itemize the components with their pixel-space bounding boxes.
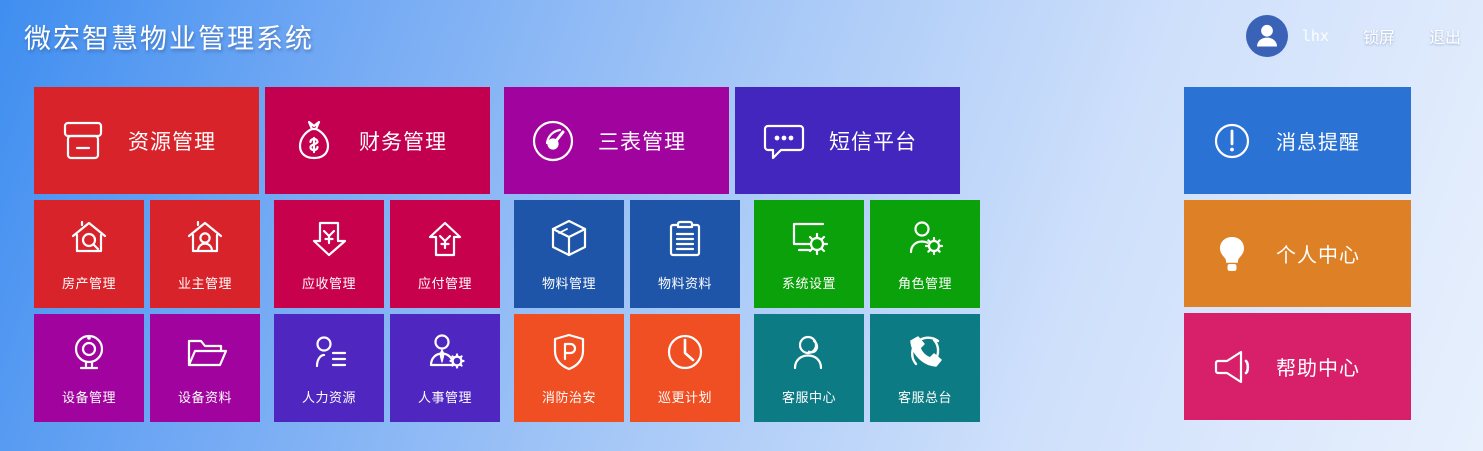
tile-label: 客服中心 bbox=[782, 387, 836, 406]
module-grid-row-3: 设备管理 设备资料 人力资源 人事管理 消防治安 bbox=[34, 314, 980, 422]
folder-open-icon bbox=[181, 328, 229, 376]
tile-patrol-plan[interactable]: 巡更计划 bbox=[630, 314, 740, 422]
meter-gauge-icon bbox=[526, 114, 580, 168]
tile-equipment-records[interactable]: 设备资料 bbox=[150, 314, 260, 422]
tile-fire-security[interactable]: 消防治安 bbox=[514, 314, 624, 422]
tile-sms-platform[interactable]: 短信平台 bbox=[735, 87, 960, 194]
house-search-icon bbox=[65, 214, 113, 262]
tile-label: 短信平台 bbox=[829, 126, 917, 156]
tile-label: 物料管理 bbox=[542, 273, 596, 292]
tile-label: 消防治安 bbox=[542, 387, 596, 406]
tile-label: 人事管理 bbox=[418, 387, 472, 406]
person-list-icon bbox=[305, 328, 353, 376]
house-person-icon bbox=[181, 214, 229, 262]
page-title: 微宏智慧物业管理系统 bbox=[24, 17, 314, 56]
tile-label: 角色管理 bbox=[898, 273, 952, 292]
tile-label: 帮助中心 bbox=[1276, 352, 1360, 381]
tile-label: 业主管理 bbox=[178, 273, 232, 292]
module-grid-row-1: 资源管理 财务管理 三表管理 短信平台 bbox=[34, 87, 980, 194]
tile-label: 应收管理 bbox=[302, 273, 356, 292]
tile-role-management[interactable]: 角色管理 bbox=[870, 200, 980, 308]
tile-equipment-management[interactable]: 设备管理 bbox=[34, 314, 144, 422]
avatar[interactable] bbox=[1246, 15, 1288, 57]
arrow-down-yuan-icon bbox=[305, 214, 353, 262]
user-name: lhx bbox=[1302, 27, 1329, 45]
tile-label: 设备资料 bbox=[178, 387, 232, 406]
tile-system-settings[interactable]: 系统设置 bbox=[754, 200, 864, 308]
tile-label: 个人中心 bbox=[1276, 239, 1360, 268]
logout-link[interactable]: 退出 bbox=[1429, 24, 1461, 48]
tile-label: 应付管理 bbox=[418, 273, 472, 292]
tile-label: 财务管理 bbox=[359, 126, 447, 156]
tile-resource-management[interactable]: 资源管理 bbox=[34, 87, 259, 194]
tile-label: 消息提醒 bbox=[1276, 126, 1360, 155]
tile-receivable-management[interactable]: 应收管理 bbox=[274, 200, 384, 308]
archive-drawer-icon bbox=[56, 114, 110, 168]
user-avatar-icon bbox=[1246, 15, 1288, 57]
phone-call-icon bbox=[901, 328, 949, 376]
tile-label: 资源管理 bbox=[128, 126, 216, 156]
person-gear-icon bbox=[901, 214, 949, 262]
tile-label: 物料资料 bbox=[658, 273, 712, 292]
megaphone-icon bbox=[1208, 343, 1256, 391]
arrow-up-yuan-icon bbox=[421, 214, 469, 262]
tile-customer-service-desk[interactable]: 客服总台 bbox=[870, 314, 980, 422]
tile-label: 设备管理 bbox=[62, 387, 116, 406]
tile-meter-management[interactable]: 三表管理 bbox=[504, 87, 729, 194]
lightbulb-icon bbox=[1208, 230, 1256, 278]
tile-material-records[interactable]: 物料资料 bbox=[630, 200, 740, 308]
tile-customer-service-center[interactable]: 客服中心 bbox=[754, 314, 864, 422]
module-grid: 资源管理 财务管理 三表管理 短信平台 房产管理 bbox=[34, 87, 980, 422]
header-user-area: lhx 锁屏 退出 bbox=[1246, 15, 1461, 57]
lock-screen-link[interactable]: 锁屏 bbox=[1363, 24, 1395, 48]
tile-help-center[interactable]: 帮助中心 bbox=[1184, 313, 1411, 420]
headset-person-icon bbox=[785, 328, 833, 376]
tile-property-management[interactable]: 房产管理 bbox=[34, 200, 144, 308]
tile-label: 系统设置 bbox=[782, 273, 836, 292]
person-tie-gear-icon bbox=[421, 328, 469, 376]
clock-icon bbox=[661, 328, 709, 376]
tile-human-resources[interactable]: 人力资源 bbox=[274, 314, 384, 422]
tile-personnel-management[interactable]: 人事管理 bbox=[390, 314, 500, 422]
tile-label: 客服总台 bbox=[898, 387, 952, 406]
monitor-gear-icon bbox=[785, 214, 833, 262]
tile-finance-management[interactable]: 财务管理 bbox=[265, 87, 490, 194]
police-shield-icon bbox=[545, 328, 593, 376]
tile-label: 巡更计划 bbox=[658, 387, 712, 406]
tile-label: 人力资源 bbox=[302, 387, 356, 406]
box-icon bbox=[545, 214, 593, 262]
tile-owner-management[interactable]: 业主管理 bbox=[150, 200, 260, 308]
app-header: 微宏智慧物业管理系统 lhx 锁屏 退出 bbox=[0, 0, 1483, 72]
tile-message-alert[interactable]: 消息提醒 bbox=[1184, 87, 1411, 194]
tile-label: 房产管理 bbox=[62, 273, 116, 292]
clipboard-icon bbox=[661, 214, 709, 262]
tile-personal-center[interactable]: 个人中心 bbox=[1184, 200, 1411, 307]
module-grid-row-2: 房产管理 业主管理 应收管理 应付管理 物料管理 bbox=[34, 200, 980, 308]
tile-payable-management[interactable]: 应付管理 bbox=[390, 200, 500, 308]
camera-icon bbox=[65, 328, 113, 376]
exclamation-circle-icon bbox=[1208, 117, 1256, 165]
tile-material-management[interactable]: 物料管理 bbox=[514, 200, 624, 308]
money-bag-icon bbox=[287, 114, 341, 168]
side-panel: 消息提醒 个人中心 帮助中心 bbox=[1184, 87, 1411, 420]
tile-label: 三表管理 bbox=[598, 126, 686, 156]
speech-bubble-icon bbox=[757, 114, 811, 168]
